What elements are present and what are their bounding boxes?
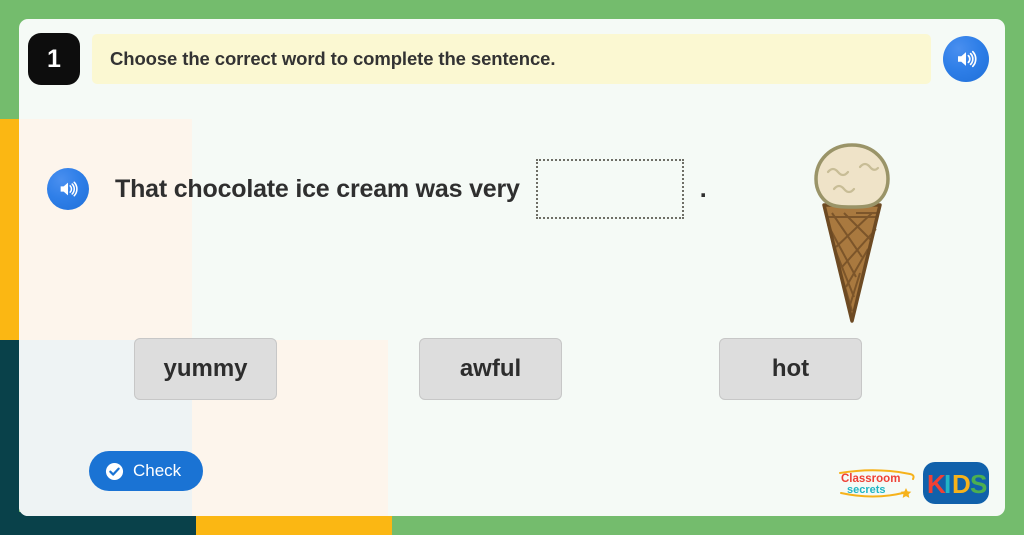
speaker-icon [57,178,79,200]
instruction-bar: Choose the correct word to complete the … [92,34,931,84]
instruction-speaker-button[interactable] [943,36,989,82]
sentence-suffix-text: . [700,175,707,204]
kids-logo: K I D S [923,462,989,504]
sentence-speaker-button[interactable] [47,168,89,210]
speaker-icon [954,47,978,71]
classroom-secrets-logo: Classroom secrets [837,466,915,500]
frame-band-teal-left [0,340,19,535]
option-button-2[interactable]: hot [719,338,862,400]
check-button-label: Check [133,461,181,481]
activity-card: 1 Choose the correct word to complete th… [19,19,1005,516]
question-number-badge: 1 [28,33,80,85]
frame-band-yellow-left [0,119,19,340]
svg-text:I: I [944,469,951,499]
check-button[interactable]: Check [89,451,203,491]
question-number-label: 1 [47,45,61,74]
answer-blank-dropzone[interactable] [536,159,684,219]
svg-text:S: S [970,469,987,499]
option-button-1[interactable]: awful [419,338,562,400]
question-header: 1 Choose the correct word to complete th… [19,19,1005,99]
sentence-prefix-text: That chocolate ice cream was very [115,175,520,204]
activity-frame: 1 Choose the correct word to complete th… [0,0,1024,535]
svg-text:D: D [952,469,971,499]
branding-logos: Classroom secrets K I D S [837,462,989,504]
ice-cream-cone-illustration [802,137,902,327]
circle-check-icon [105,462,124,481]
instruction-text: Choose the correct word to complete the … [110,48,555,70]
svg-text:secrets: secrets [847,484,886,496]
answer-options: yummy awful hot [19,338,1005,408]
option-button-0[interactable]: yummy [134,338,277,400]
